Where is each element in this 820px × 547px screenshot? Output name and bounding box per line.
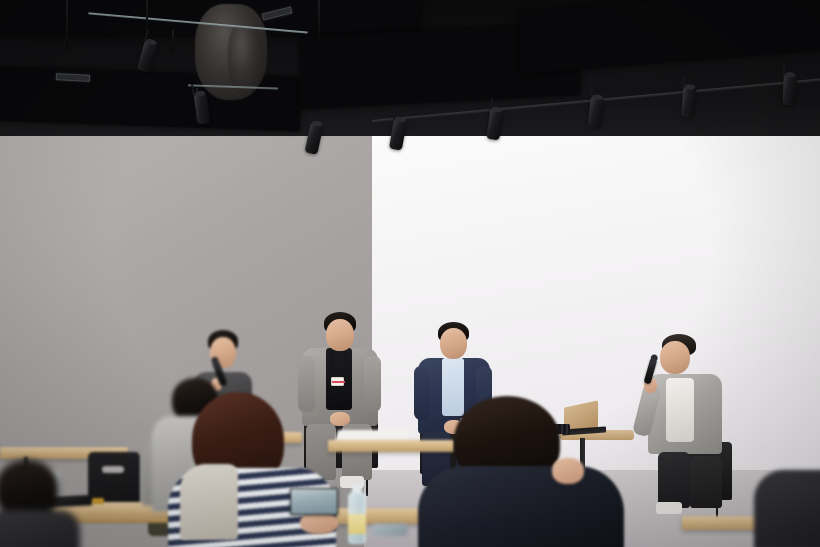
photo-scene: 後継者支援事業「GUNMAアトツギ部」の概要 アトツギコミュニティ形成 アトツギ… bbox=[0, 0, 820, 547]
arm bbox=[414, 366, 430, 420]
leg bbox=[658, 452, 690, 508]
bottle-label bbox=[348, 514, 366, 534]
name-badge bbox=[331, 377, 344, 386]
water-bottle bbox=[348, 492, 366, 544]
audience-2 bbox=[168, 392, 348, 547]
bottle-cap bbox=[352, 485, 362, 493]
eyeglasses bbox=[372, 524, 408, 536]
arm bbox=[364, 356, 381, 412]
phone-screen bbox=[291, 489, 337, 514]
audience-3 bbox=[432, 396, 632, 547]
leg bbox=[690, 456, 722, 508]
smartphone-recording bbox=[290, 488, 338, 515]
body bbox=[754, 470, 820, 547]
pen bbox=[92, 498, 104, 504]
body bbox=[0, 510, 80, 547]
ceiling-hanger-rod bbox=[172, 30, 174, 52]
audience-far-left bbox=[0, 460, 80, 547]
shoulder-light bbox=[180, 464, 238, 540]
head bbox=[326, 319, 354, 351]
chair-handle-slot bbox=[102, 466, 124, 473]
audience-right-edge bbox=[754, 470, 820, 547]
hand-holding-phone bbox=[300, 512, 338, 534]
hand bbox=[552, 458, 584, 484]
ceiling-hanger-rod bbox=[66, 0, 68, 50]
head bbox=[440, 328, 467, 359]
moderator bbox=[634, 334, 740, 514]
ceiling-duct-branch bbox=[228, 22, 262, 94]
shoe bbox=[656, 502, 682, 514]
head bbox=[660, 341, 690, 374]
white-shirt bbox=[666, 378, 694, 442]
dark-suit bbox=[418, 466, 624, 547]
ceiling-hanger-rod bbox=[318, 0, 320, 42]
